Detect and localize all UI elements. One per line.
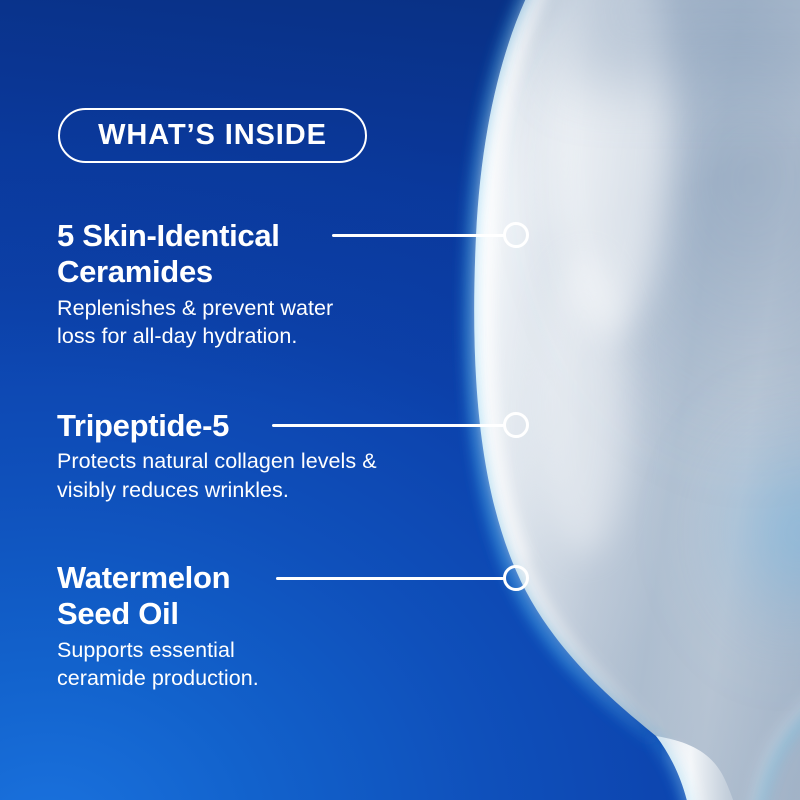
circle-marker-icon — [503, 565, 529, 591]
feature-block-ceramides: 5 Skin-Identical Ceramides Replenishes &… — [57, 218, 387, 350]
feature-description-line: Supports essential — [57, 636, 387, 664]
feature-title-line: Seed Oil — [57, 596, 387, 632]
feature-description-line: loss for all-day hydration. — [57, 322, 387, 350]
circle-marker-icon — [503, 222, 529, 248]
feature-description: Protects natural collagen levels & visib… — [57, 447, 387, 504]
feature-description-line: visibly reduces wrinkles. — [57, 476, 387, 504]
feature-title-line: Ceramides — [57, 254, 387, 290]
badge-label: WHAT’S INSIDE — [98, 121, 327, 150]
whats-inside-badge: WHAT’S INSIDE — [58, 108, 367, 163]
feature-title: 5 Skin-Identical Ceramides — [57, 218, 387, 291]
feature-description: Supports essential ceramide production. — [57, 636, 387, 693]
feature-description-line: ceramide production. — [57, 664, 387, 692]
feature-description: Replenishes & prevent water loss for all… — [57, 294, 387, 351]
circle-marker-icon — [503, 412, 529, 438]
feature-connector-line — [332, 234, 504, 237]
feature-description-line: Protects natural collagen levels & — [57, 447, 387, 475]
feature-block-tripeptide: Tripeptide-5 Protects natural collagen l… — [57, 408, 387, 504]
feature-connector-line — [276, 577, 504, 580]
feature-description-line: Replenishes & prevent water — [57, 294, 387, 322]
feature-title: Watermelon Seed Oil — [57, 560, 387, 633]
feature-connector-line — [272, 424, 504, 427]
promo-graphic: WHAT’S INSIDE 5 Skin-Identical Ceramides… — [0, 0, 800, 800]
